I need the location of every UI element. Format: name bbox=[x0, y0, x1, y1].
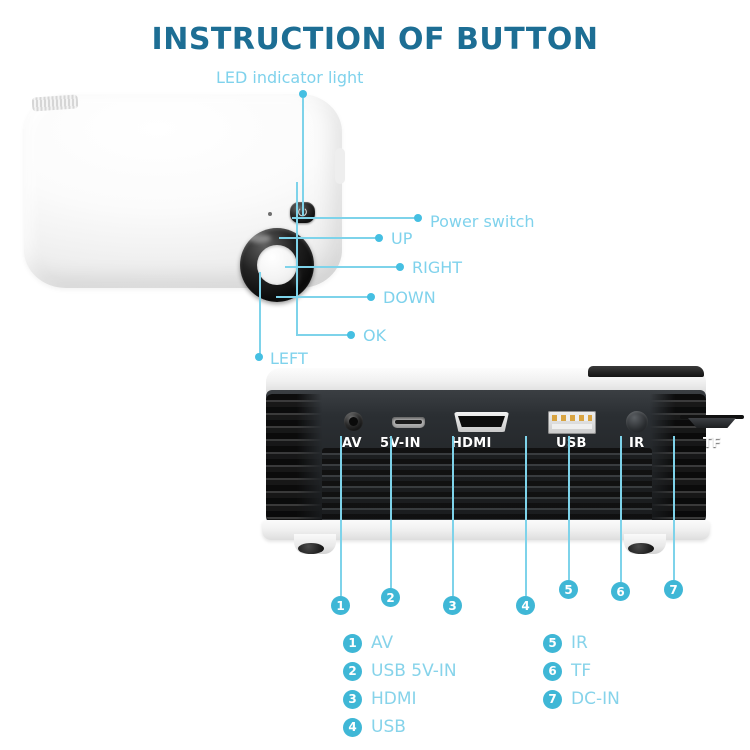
callout-label-down: DOWN bbox=[383, 288, 436, 307]
legend-badge-3: 3 bbox=[343, 690, 362, 709]
callout-line-power bbox=[292, 217, 416, 219]
legend-badge-6: 6 bbox=[543, 662, 562, 681]
callout-dot-down bbox=[367, 293, 375, 301]
legend-text-3: HDMI bbox=[371, 689, 417, 709]
marker-badge-5[interactable]: 5 bbox=[559, 580, 578, 599]
legend-item-6: 6 TF bbox=[543, 661, 591, 681]
callout-label-power: Power switch bbox=[430, 212, 535, 231]
callout-line-ok-h bbox=[296, 334, 349, 336]
legend-item-1: 1 AV bbox=[343, 633, 393, 653]
marker-badge-3[interactable]: 3 bbox=[443, 596, 462, 615]
marker-line-4 bbox=[525, 436, 527, 596]
marker-line-7 bbox=[673, 436, 675, 580]
microusb-slot bbox=[395, 420, 422, 424]
callout-line-led bbox=[302, 98, 304, 216]
legend-badge-4: 4 bbox=[343, 718, 362, 737]
port-label-hdmi: HDMI bbox=[451, 436, 492, 451]
projector-rear-view: AV 5V-IN HDMI USB IR TF DC bbox=[258, 368, 714, 568]
foot-left bbox=[294, 534, 336, 554]
legend-text-2: USB 5V-IN bbox=[371, 661, 457, 681]
foot-pad-left bbox=[298, 543, 324, 554]
callout-label-left: LEFT bbox=[270, 349, 308, 368]
rear-top-dark-strip bbox=[588, 366, 704, 377]
center-vent-slats bbox=[322, 448, 652, 522]
legend-badge-5: 5 bbox=[543, 634, 562, 653]
legend-item-5: 5 IR bbox=[543, 633, 588, 653]
callout-line-down bbox=[276, 296, 369, 298]
foot-right bbox=[624, 534, 666, 554]
marker-badge-6[interactable]: 6 bbox=[611, 582, 630, 601]
callout-line-ok-v bbox=[296, 182, 298, 334]
projector-top-view bbox=[24, 94, 342, 288]
dpad-ring[interactable] bbox=[240, 228, 314, 302]
hdmi-slot bbox=[458, 416, 505, 427]
tf-slot-shade bbox=[688, 418, 736, 428]
marker-line-3 bbox=[452, 436, 454, 596]
marker-line-6 bbox=[620, 436, 622, 582]
legend-badge-1: 1 bbox=[343, 634, 362, 653]
port-label-tf: TF bbox=[703, 436, 721, 451]
port-label-av: AV bbox=[342, 436, 362, 451]
left-vent bbox=[266, 394, 322, 522]
legend-badge-2: 2 bbox=[343, 662, 362, 681]
port-label-5v-in: 5V-IN bbox=[380, 436, 421, 451]
callout-label-ok: OK bbox=[363, 326, 386, 345]
legend-badge-7: 7 bbox=[543, 690, 562, 709]
marker-line-5 bbox=[568, 436, 570, 580]
legend-item-2: 2 USB 5V-IN bbox=[343, 661, 457, 681]
callout-label-right: RIGHT bbox=[412, 258, 462, 277]
legend-item-3: 3 HDMI bbox=[343, 689, 417, 709]
port-ir-sensor bbox=[626, 411, 648, 433]
legend-item-7: 7 DC-IN bbox=[543, 689, 620, 709]
av-jack-pin bbox=[349, 417, 358, 426]
port-5v-in[interactable] bbox=[392, 417, 425, 428]
instruction-diagram: INSTRUCTION OF BUTTON LED indicator ligh… bbox=[0, 0, 750, 750]
legend-text-1: AV bbox=[371, 633, 393, 653]
dpad-highlight bbox=[249, 234, 271, 243]
callout-line-right bbox=[285, 266, 398, 268]
callout-line-up bbox=[279, 237, 377, 239]
usb-contacts bbox=[552, 415, 592, 421]
callout-label-up: UP bbox=[391, 229, 412, 248]
legend-text-5: IR bbox=[571, 633, 588, 653]
marker-line-2 bbox=[390, 436, 392, 588]
marker-badge-4[interactable]: 4 bbox=[516, 596, 535, 615]
dpad-ok-button[interactable] bbox=[257, 245, 297, 285]
callout-label-led: LED indicator light bbox=[216, 68, 363, 87]
callout-dot-left bbox=[255, 353, 263, 361]
port-av[interactable] bbox=[344, 412, 363, 431]
port-tf[interactable] bbox=[680, 415, 744, 431]
legend-item-4: 4 USB bbox=[343, 717, 406, 737]
legend-text-7: DC-IN bbox=[571, 689, 620, 709]
usb-tongue bbox=[552, 424, 592, 429]
callout-dot-power bbox=[414, 214, 422, 222]
marker-badge-2[interactable]: 2 bbox=[381, 588, 400, 607]
legend-text-6: TF bbox=[571, 661, 591, 681]
callout-dot-led bbox=[299, 90, 307, 98]
foot-pad-right bbox=[628, 543, 654, 554]
marker-badge-7[interactable]: 7 bbox=[664, 580, 683, 599]
marker-line-1 bbox=[340, 436, 342, 596]
page-title: INSTRUCTION OF BUTTON bbox=[0, 22, 750, 57]
callout-dot-ok bbox=[347, 331, 355, 339]
port-hdmi[interactable] bbox=[454, 412, 509, 432]
callout-line-left bbox=[259, 272, 261, 356]
legend-text-4: USB bbox=[371, 717, 406, 737]
port-usb[interactable] bbox=[548, 411, 596, 434]
led-indicator bbox=[268, 212, 272, 216]
port-label-ir: IR bbox=[629, 436, 644, 451]
callout-dot-right bbox=[396, 263, 404, 271]
right-vent bbox=[650, 394, 706, 522]
side-bump bbox=[335, 148, 345, 184]
port-label-usb: USB bbox=[556, 436, 587, 451]
callout-dot-up bbox=[375, 234, 383, 242]
rear-port-panel: AV 5V-IN HDMI USB IR TF DC bbox=[266, 390, 706, 526]
marker-badge-1[interactable]: 1 bbox=[331, 596, 350, 615]
